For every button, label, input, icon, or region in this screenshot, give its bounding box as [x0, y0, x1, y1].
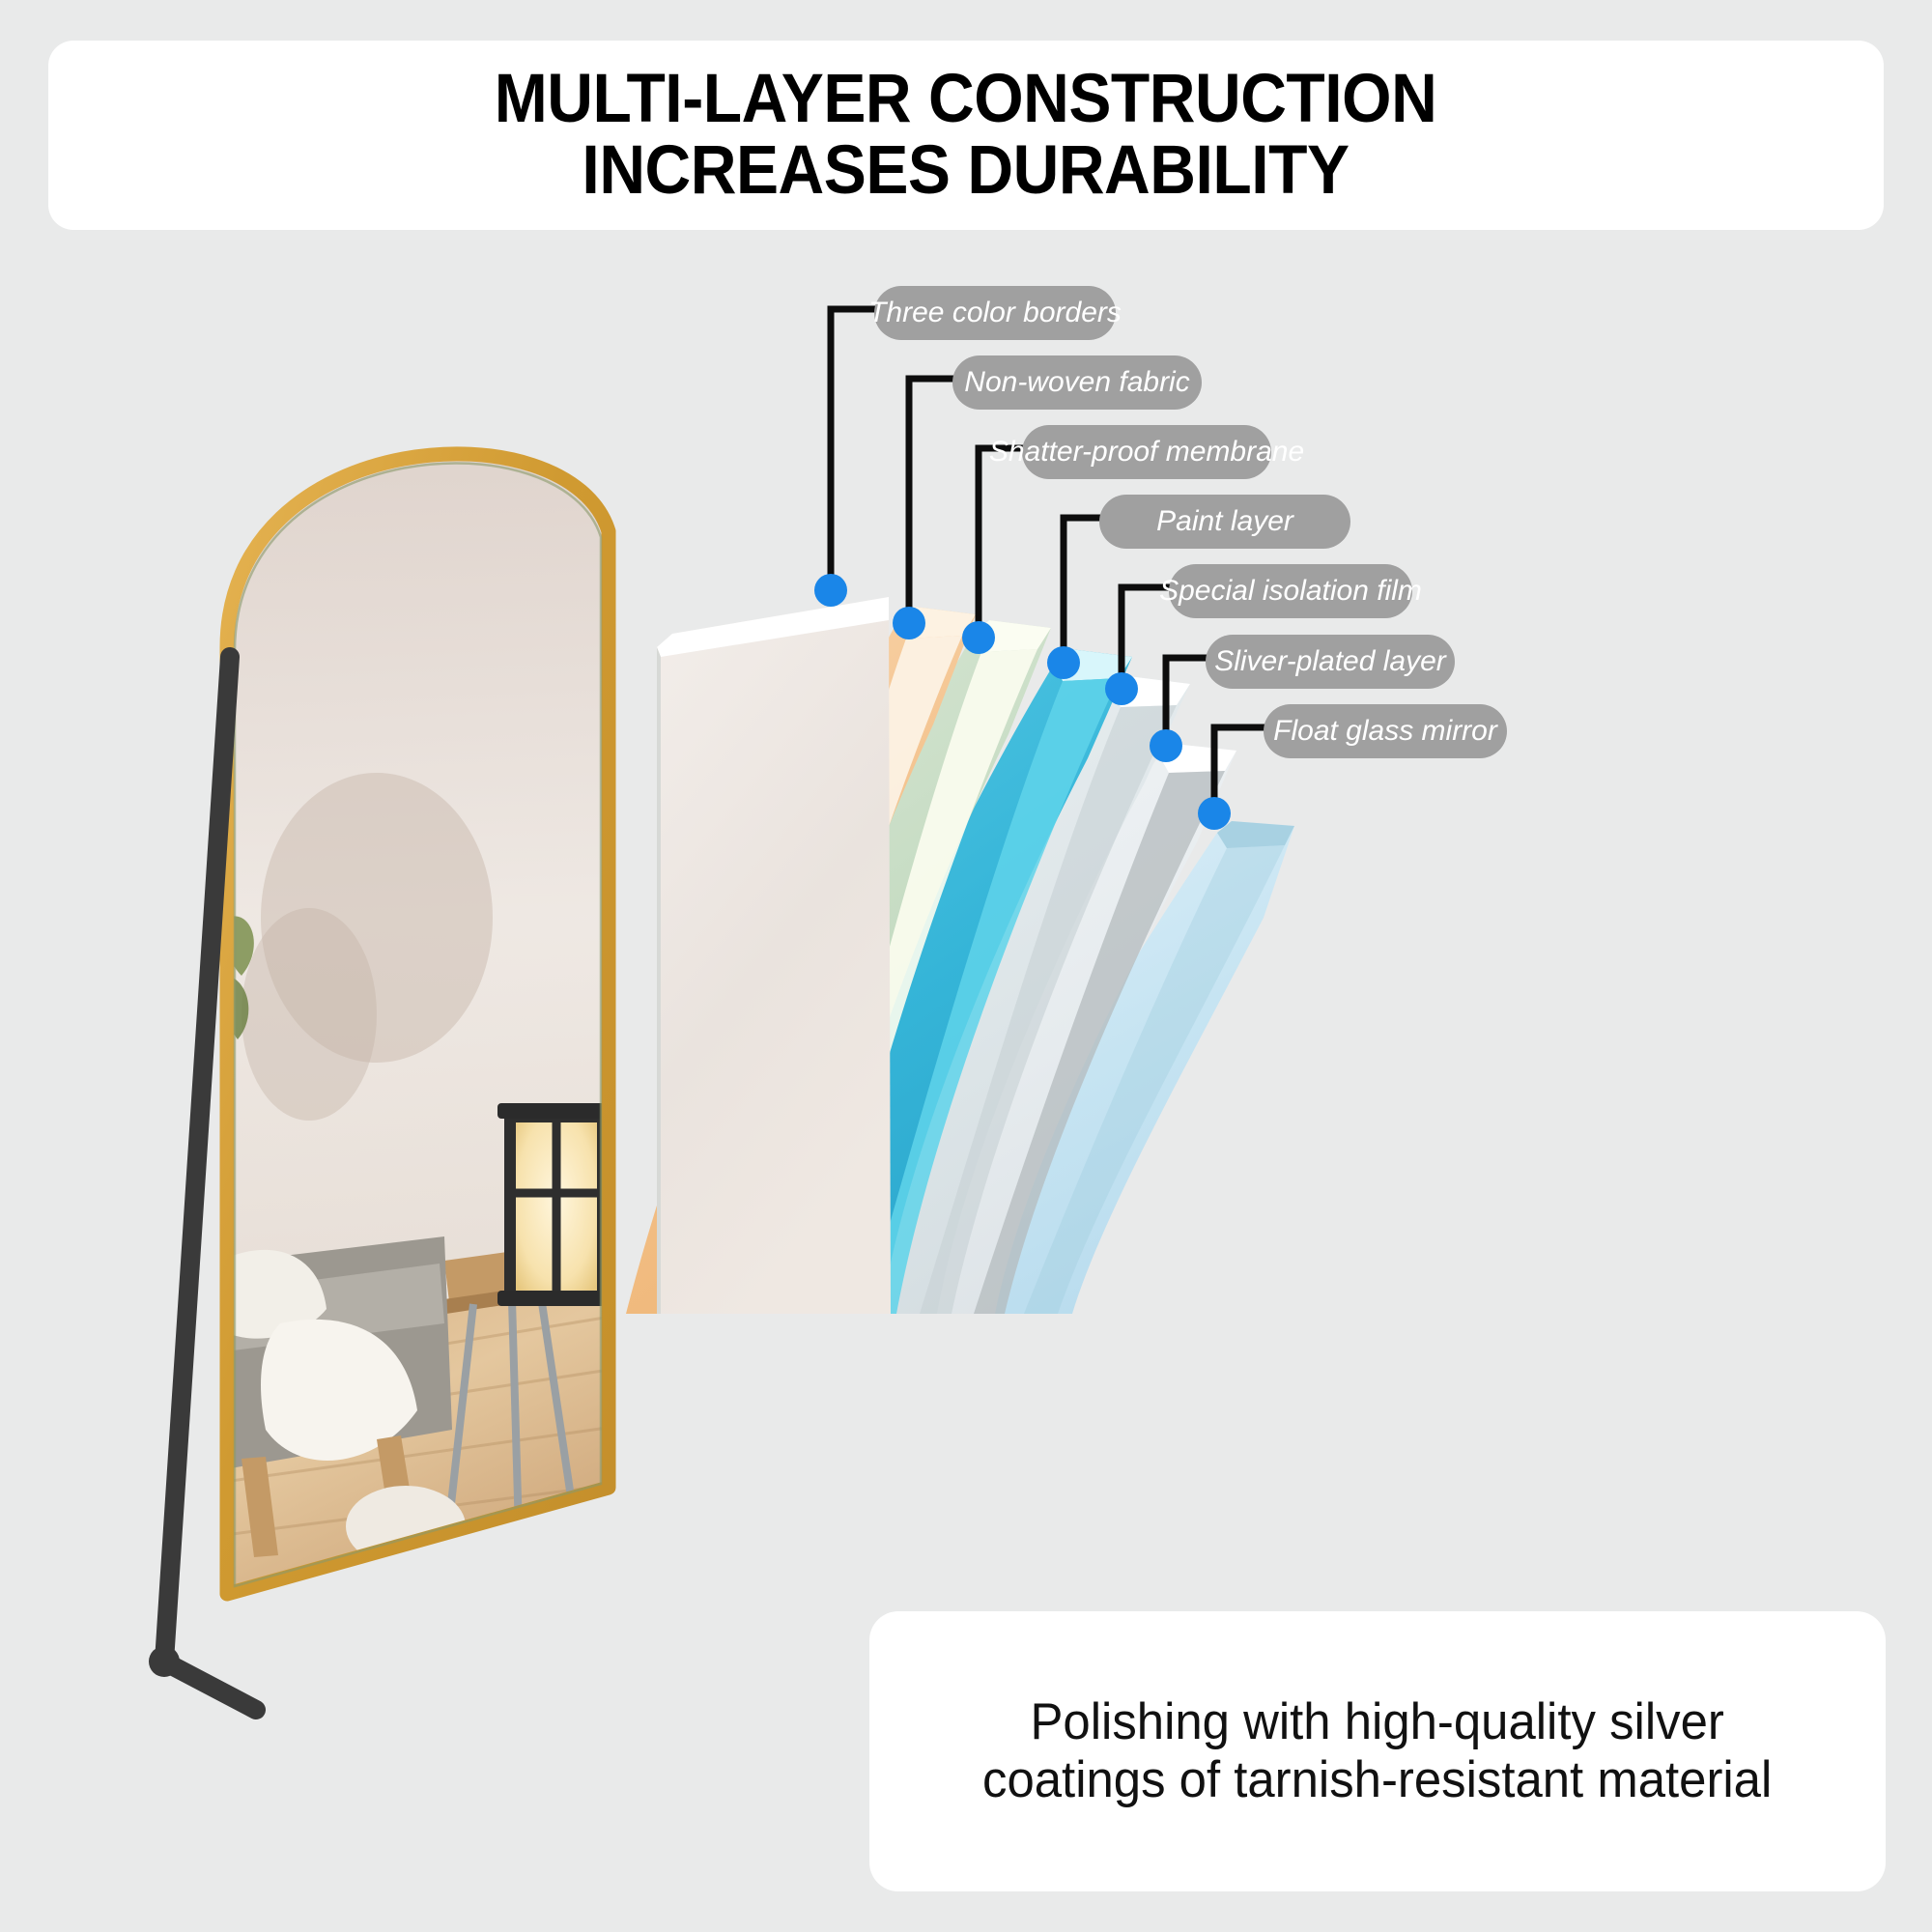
callout-label-special-isolation-film[interactable]: Special isolation film [1169, 564, 1412, 618]
callout-text: Paint layer [1156, 505, 1293, 538]
marker-dot-float-glass-mirror [1198, 797, 1231, 830]
callout-text: Float glass mirror [1273, 715, 1497, 748]
callout-label-three-color-borders[interactable]: Three color borders [874, 286, 1116, 340]
header-card: MULTI-LAYER CONSTRUCTION INCREASES DURAB… [48, 41, 1884, 230]
marker-dot-special-isolation-film [1105, 672, 1138, 705]
marker-dot-non-woven-fabric [893, 607, 925, 639]
callout-label-shatter-proof-membrane[interactable]: Shatter-proof membrane [1022, 425, 1271, 479]
marker-dot-three-color-borders [814, 574, 847, 607]
caption-card: Polishing with high-quality silver coati… [869, 1611, 1886, 1891]
infographic-root: MULTI-LAYER CONSTRUCTION INCREASES DURAB… [0, 0, 1932, 1932]
marker-dot-paint-layer [1047, 646, 1080, 679]
callout-label-paint-layer[interactable]: Paint layer [1099, 495, 1350, 549]
callout-text: Sliver-plated layer [1214, 645, 1446, 678]
caption-text: Polishing with high-quality silver coati… [955, 1693, 1801, 1810]
callout-label-sliver-plated-layer[interactable]: Sliver-plated layer [1206, 635, 1455, 689]
callout-text: Shatter-proof membrane [989, 436, 1304, 469]
page-title: MULTI-LAYER CONSTRUCTION INCREASES DURAB… [495, 64, 1437, 207]
callout-label-float-glass-mirror[interactable]: Float glass mirror [1264, 704, 1507, 758]
marker-dot-shatter-proof-membrane [962, 621, 995, 654]
callout-text: Non-woven fabric [964, 366, 1189, 399]
callout-label-non-woven-fabric[interactable]: Non-woven fabric [952, 355, 1202, 410]
callout-text: Special isolation film [1159, 575, 1422, 608]
callout-text: Three color borders [868, 297, 1122, 329]
marker-dot-sliver-plated-layer [1150, 729, 1182, 762]
